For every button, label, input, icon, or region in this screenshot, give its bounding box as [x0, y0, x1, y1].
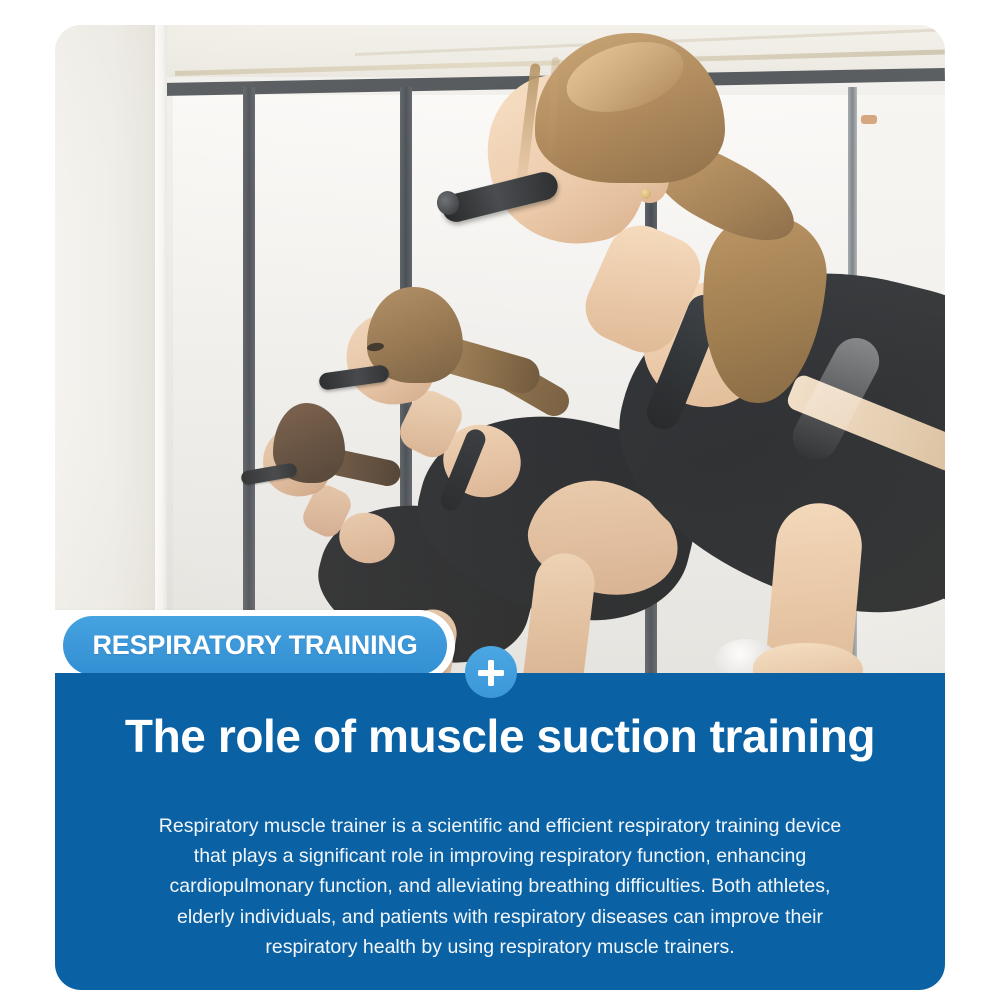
page-title: The role of muscle suction training: [55, 711, 945, 762]
description-line: that plays a significant role in improvi…: [87, 841, 913, 871]
earring: [641, 189, 651, 199]
promo-card: RESPIRATORY TRAINING The role of muscle …: [55, 25, 945, 990]
window-pane: [173, 95, 243, 673]
description-line: elderly individuals, and patients with r…: [87, 902, 913, 932]
page-root: RESPIRATORY TRAINING The role of muscle …: [0, 0, 1001, 1001]
description-line: Respiratory muscle trainer is a scientif…: [87, 811, 913, 841]
wall-pillar-edge: [155, 25, 167, 673]
window-mullion: [243, 87, 255, 673]
description-line: respiratory health by using respiratory …: [87, 932, 913, 962]
plus-icon: [465, 646, 517, 698]
badge-label: RESPIRATORY TRAINING: [92, 630, 417, 661]
description-text: Respiratory muscle trainer is a scientif…: [87, 811, 913, 962]
respiratory-training-badge: RESPIRATORY TRAINING: [63, 616, 447, 675]
wall-pillar: [55, 25, 161, 673]
plus-icon-vertical-bar: [488, 660, 494, 686]
info-panel: The role of muscle suction training Resp…: [55, 673, 945, 990]
gym-respiratory-training-photo: [55, 25, 945, 673]
wall-marker: [861, 115, 877, 124]
description-line: cardiopulmonary function, and alleviatin…: [87, 871, 913, 901]
